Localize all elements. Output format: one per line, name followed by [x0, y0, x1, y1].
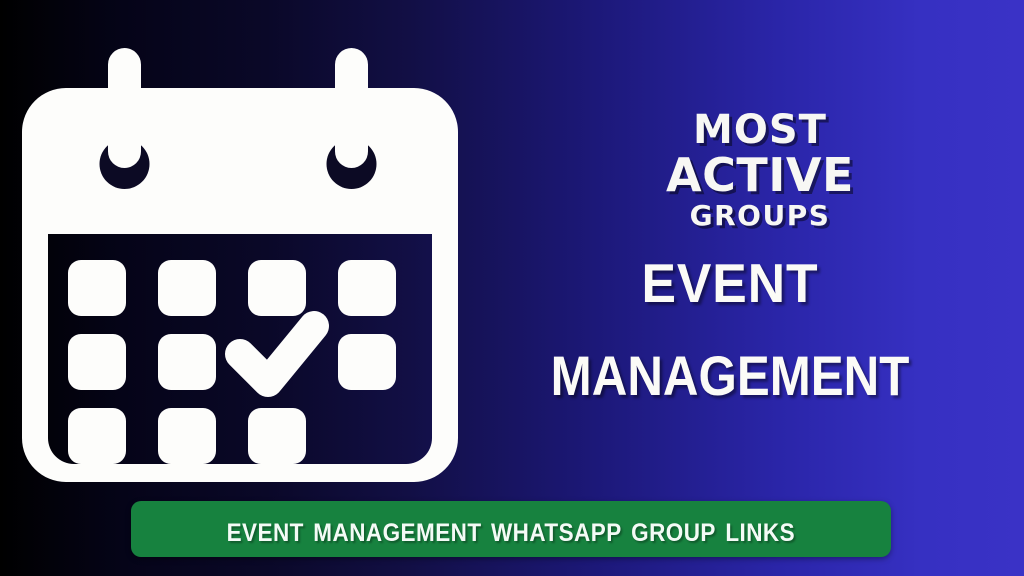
poster-canvas: MOST ACTIVE GROUPS Event Management Even…: [0, 0, 1024, 576]
headline-line-1: Event: [486, 236, 975, 314]
page-title: Event Management: [470, 236, 990, 410]
banner: Event Management WhatsApp Group Links: [131, 501, 891, 557]
banner-text: Event Management WhatsApp Group Links: [227, 511, 796, 547]
calendar-check-icon: [22, 48, 458, 482]
kicker-block: MOST ACTIVE GROUPS: [560, 110, 960, 230]
kicker-line-groups: GROUPS: [560, 202, 960, 230]
kicker-line-active: ACTIVE: [560, 152, 960, 198]
headline-line-2: Management: [501, 326, 959, 410]
kicker-line-most: MOST: [560, 110, 960, 150]
